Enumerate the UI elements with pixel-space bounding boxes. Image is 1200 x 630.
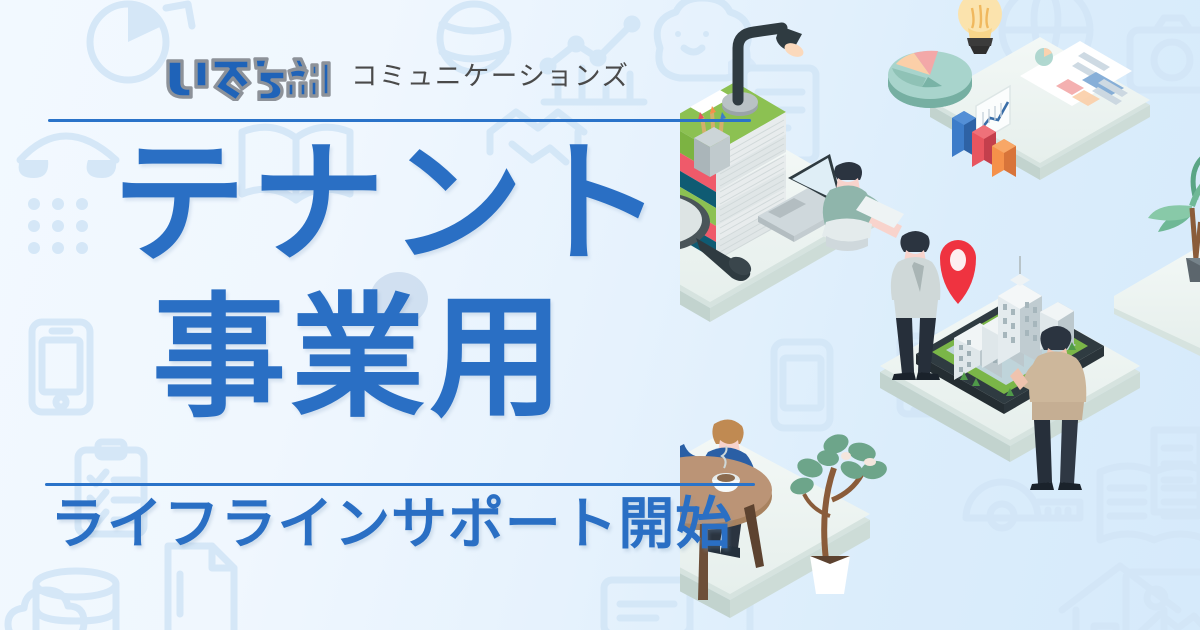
ierabu-logo-mark bbox=[163, 55, 341, 101]
pie-chart-3d bbox=[888, 51, 972, 108]
palm-plant bbox=[1148, 158, 1200, 282]
pattern-camera-icon bbox=[1130, 18, 1200, 90]
plant-platform bbox=[1114, 158, 1200, 356]
brand-logo-suffix: コミュニケーションズ bbox=[351, 64, 630, 93]
bottom-divider bbox=[45, 483, 755, 486]
headline-line-1: テナント bbox=[112, 142, 667, 267]
map-pin bbox=[940, 240, 976, 304]
headline-line-2: 事業用 bbox=[152, 296, 568, 421]
report-document bbox=[1020, 41, 1132, 106]
potted-bonsai bbox=[788, 431, 888, 594]
trees bbox=[960, 334, 1076, 396]
top-divider bbox=[48, 119, 751, 122]
pattern-newspaper-icon bbox=[1100, 466, 1200, 540]
pattern-book-icon bbox=[1154, 430, 1200, 512]
person-reading bbox=[822, 162, 904, 251]
analytics-platform bbox=[888, 0, 1150, 180]
pattern-photo-icon bbox=[1126, 572, 1200, 630]
person-standing-left bbox=[891, 231, 940, 380]
line-chart-frame bbox=[976, 86, 1010, 144]
hero-banner: コミュニケーションズ テナント 事業用 ライフラインサポート開始 bbox=[0, 0, 1200, 630]
light-bulb bbox=[958, 0, 1002, 54]
city-platform bbox=[880, 231, 1140, 490]
pattern-tape-measure-icon bbox=[966, 482, 1080, 528]
text-content: コミュニケーションズ テナント 事業用 ライフラインサポート開始 bbox=[0, 0, 790, 630]
tablet-city-model bbox=[916, 256, 1104, 414]
person-standing-right bbox=[1010, 326, 1086, 490]
brand-logo[interactable]: コミュニケーションズ bbox=[163, 55, 630, 101]
subheadline: ライフラインサポート開始 bbox=[50, 497, 732, 553]
bar-chart-3d bbox=[952, 111, 1016, 177]
pattern-globe-icon bbox=[1002, 0, 1090, 74]
pattern-browser-window-icon bbox=[900, 336, 1008, 414]
pattern-house-icon bbox=[1062, 566, 1178, 630]
